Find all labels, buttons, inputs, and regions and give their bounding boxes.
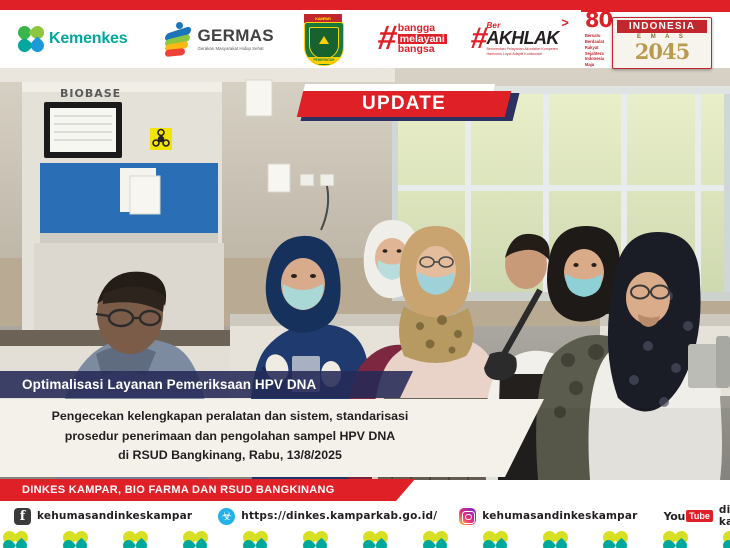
logo-germas: GERMAS Gerakan Masyarakat Hidup Sehat bbox=[163, 22, 273, 56]
instagram-icon bbox=[459, 508, 476, 525]
emas-year: 2045 bbox=[613, 42, 711, 61]
clover-motif-icon bbox=[360, 531, 394, 548]
bottom-clover-pattern bbox=[0, 531, 730, 548]
facebook-handle: kehumasandinkeskampar bbox=[37, 510, 192, 522]
social-bar: f kehumasandinkeskampar ☣ https://dinkes… bbox=[0, 501, 730, 531]
description-line-1: Pengecekan kelengkapan peralatan dan sis… bbox=[52, 409, 409, 423]
clover-motif-icon bbox=[660, 531, 694, 548]
crest-star-icon bbox=[319, 36, 329, 44]
facebook-icon: f bbox=[14, 508, 31, 525]
clover-motif-icon bbox=[720, 531, 730, 548]
clover-motif-icon bbox=[420, 531, 454, 548]
headline-text: Optimalisasi Layanan Pemeriksaan HPV DNA bbox=[0, 371, 400, 398]
organizations-text: DINKES KAMPAR, BIO FARMA DAN RSUD BANGKI… bbox=[0, 479, 396, 501]
social-item-instagram[interactable]: kehumasandinkeskampar bbox=[459, 508, 637, 525]
organizations-bar: DINKES KAMPAR, BIO FARMA DAN RSUD BANGKI… bbox=[0, 479, 396, 501]
clover-motif-icon bbox=[240, 531, 274, 548]
poster-root: Kemenkes GERMAS Gerakan Masyarakat Hidup… bbox=[0, 0, 730, 548]
clover-motif-icon bbox=[300, 531, 334, 548]
header-logo-row: Kemenkes GERMAS Gerakan Masyarakat Hidup… bbox=[0, 10, 580, 68]
germas-label: GERMAS bbox=[197, 27, 273, 44]
hut-ri-tagline: Bersatu Berdaulat Rakyat Sejahtera Indon… bbox=[585, 33, 612, 67]
clover-motif-icon bbox=[0, 531, 34, 548]
headline-bar: Optimalisasi Layanan Pemeriksaan HPV DNA bbox=[0, 371, 400, 398]
kemenkes-clover-icon bbox=[18, 26, 44, 52]
svg-text:BIOBASE: BIOBASE bbox=[60, 87, 121, 100]
germas-figure-icon bbox=[163, 22, 193, 56]
description-panel: Pengecekan kelengkapan peralatan dan sis… bbox=[0, 399, 505, 477]
youtube-tube-label: Tube bbox=[686, 510, 713, 522]
social-item-website[interactable]: ☣ https://dinkes.kamparkab.go.id/ bbox=[218, 508, 437, 525]
website-url: https://dinkes.kamparkab.go.id/ bbox=[241, 510, 437, 522]
kemenkes-label: Kemenkes bbox=[49, 30, 127, 48]
update-badge: UPDATE bbox=[300, 84, 516, 122]
chevron-right-icon: > bbox=[561, 16, 569, 29]
hut-ri-number: 80 bbox=[585, 10, 612, 31]
logo-kampar-crest: KAMPAR PEMERINTAH KABUPATEN bbox=[304, 14, 342, 64]
youtube-icon: You Tube bbox=[664, 510, 713, 523]
hashtag-icon: # bbox=[469, 27, 487, 51]
hashtag-icon: # bbox=[376, 25, 397, 52]
logo-indonesia-emas-2045: INDONESIA E M A S 2045 bbox=[612, 17, 712, 69]
clover-motif-icon bbox=[60, 531, 94, 548]
youtube-handle: dinkes kampar bbox=[719, 504, 730, 528]
logo-berakhlak: # Ber AKHLAK > Berorientasi Pelayanan Ak… bbox=[471, 22, 559, 57]
instagram-handle: kehumasandinkeskampar bbox=[482, 510, 637, 522]
clover-motif-icon bbox=[540, 531, 574, 548]
bangga-line-3: bangsa bbox=[398, 44, 447, 55]
social-item-youtube[interactable]: You Tube dinkes kampar bbox=[664, 504, 730, 528]
clover-motif-icon bbox=[600, 531, 634, 548]
logo-bangga-melayani-bangsa: # bangga melayani bangsa bbox=[378, 23, 447, 55]
clover-motif-icon bbox=[120, 531, 154, 548]
clover-motif-icon bbox=[180, 531, 214, 548]
emas-title: INDONESIA bbox=[617, 20, 707, 33]
description-line-3: di RSUD Bangkinang, Rabu, 13/8/2025 bbox=[118, 448, 342, 462]
description-line-2: prosedur penerimaan dan pengolahan sampe… bbox=[65, 429, 396, 443]
germas-tagline: Gerakan Masyarakat Hidup Sehat bbox=[197, 46, 273, 52]
berakhlak-main-label: AKHLAK bbox=[486, 30, 558, 46]
clover-motif-icon bbox=[480, 531, 514, 548]
logo-kemenkes: Kemenkes bbox=[18, 26, 127, 52]
social-item-facebook[interactable]: f kehumasandinkeskampar bbox=[14, 508, 192, 525]
crest-ribbon-label: PEMERINTAH KABUPATEN bbox=[307, 57, 341, 64]
kampar-crest-icon: KAMPAR PEMERINTAH KABUPATEN bbox=[304, 14, 342, 64]
globe-icon: ☣ bbox=[218, 508, 235, 525]
youtube-you-label: You bbox=[664, 510, 685, 523]
logo-hut-ri-80: 80 Bersatu Berdaulat Rakyat Sejahtera In… bbox=[585, 10, 612, 67]
update-label: UPDATE bbox=[300, 91, 508, 117]
berakhlak-tagline: Berorientasi Pelayanan Akuntabel Kompete… bbox=[486, 47, 558, 56]
